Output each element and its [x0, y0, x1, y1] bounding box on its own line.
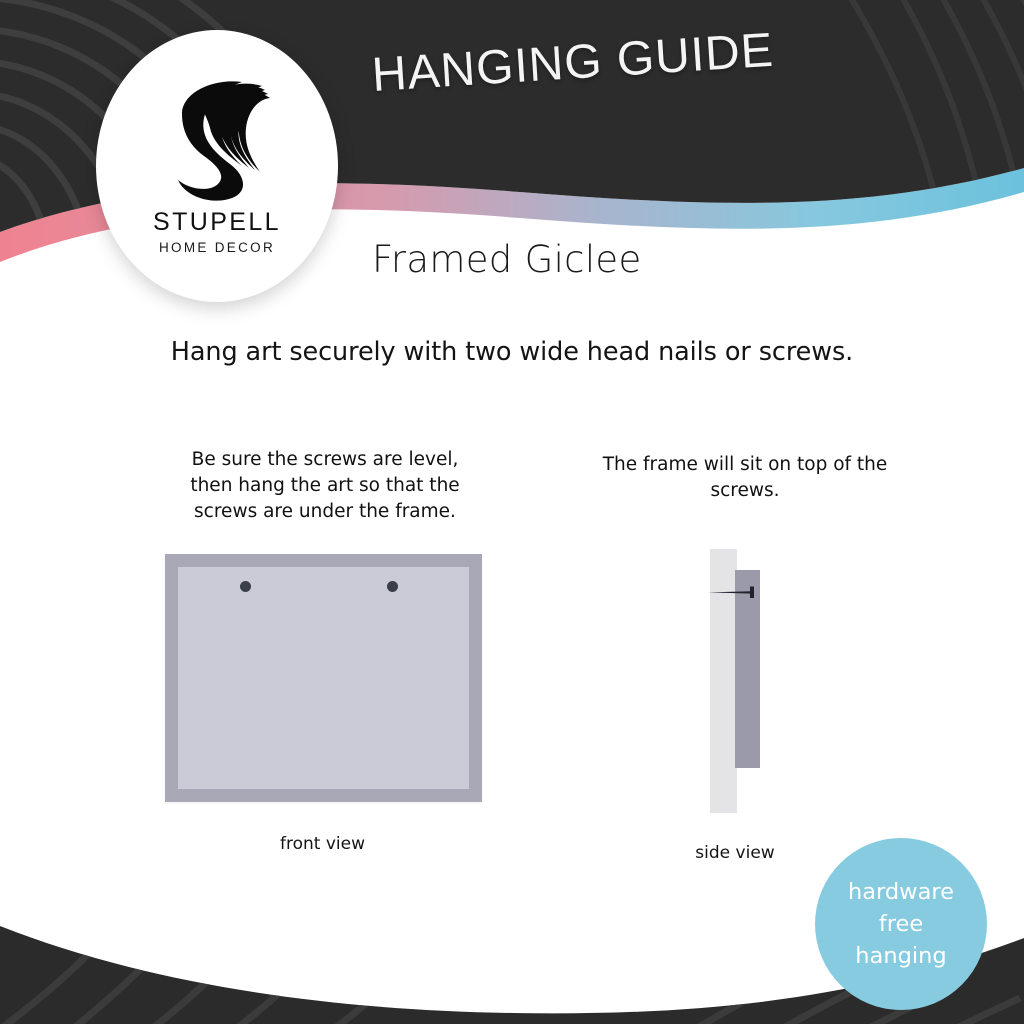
hardware-free-hanging-badge: hardware free hanging — [815, 838, 987, 1010]
badge-line-2: free — [879, 908, 923, 940]
side-view-caption: The frame will sit on top of the screws. — [600, 452, 890, 504]
front-view-caption: Be sure the screws are level, then hang … — [170, 447, 480, 525]
brand-tagline: HOME DECOR — [159, 240, 275, 255]
side-view-frame — [735, 570, 760, 768]
front-view-diagram — [165, 554, 482, 802]
side-view-label: side view — [640, 843, 830, 863]
headline-instruction: Hang art securely with two wide head nai… — [0, 337, 1024, 367]
stupell-swirl-logo-icon — [152, 74, 282, 202]
hanging-guide-page: STUPELL HOME DECOR HANGING GUIDE Framed … — [0, 0, 1024, 1024]
screw-dot-left — [240, 581, 251, 592]
side-view-diagram — [690, 540, 790, 820]
page-title: HANGING GUIDE — [370, 23, 775, 103]
product-type-label: Framed Giclee — [372, 238, 642, 281]
brand-logo-badge: STUPELL HOME DECOR — [96, 30, 338, 302]
badge-line-3: hanging — [855, 940, 946, 972]
badge-line-1: hardware — [848, 876, 954, 908]
brand-name: STUPELL — [153, 208, 281, 237]
nail-icon — [706, 585, 762, 599]
screw-dot-right — [387, 581, 398, 592]
front-view-mat — [178, 567, 469, 789]
front-view-label: front view — [200, 834, 445, 854]
